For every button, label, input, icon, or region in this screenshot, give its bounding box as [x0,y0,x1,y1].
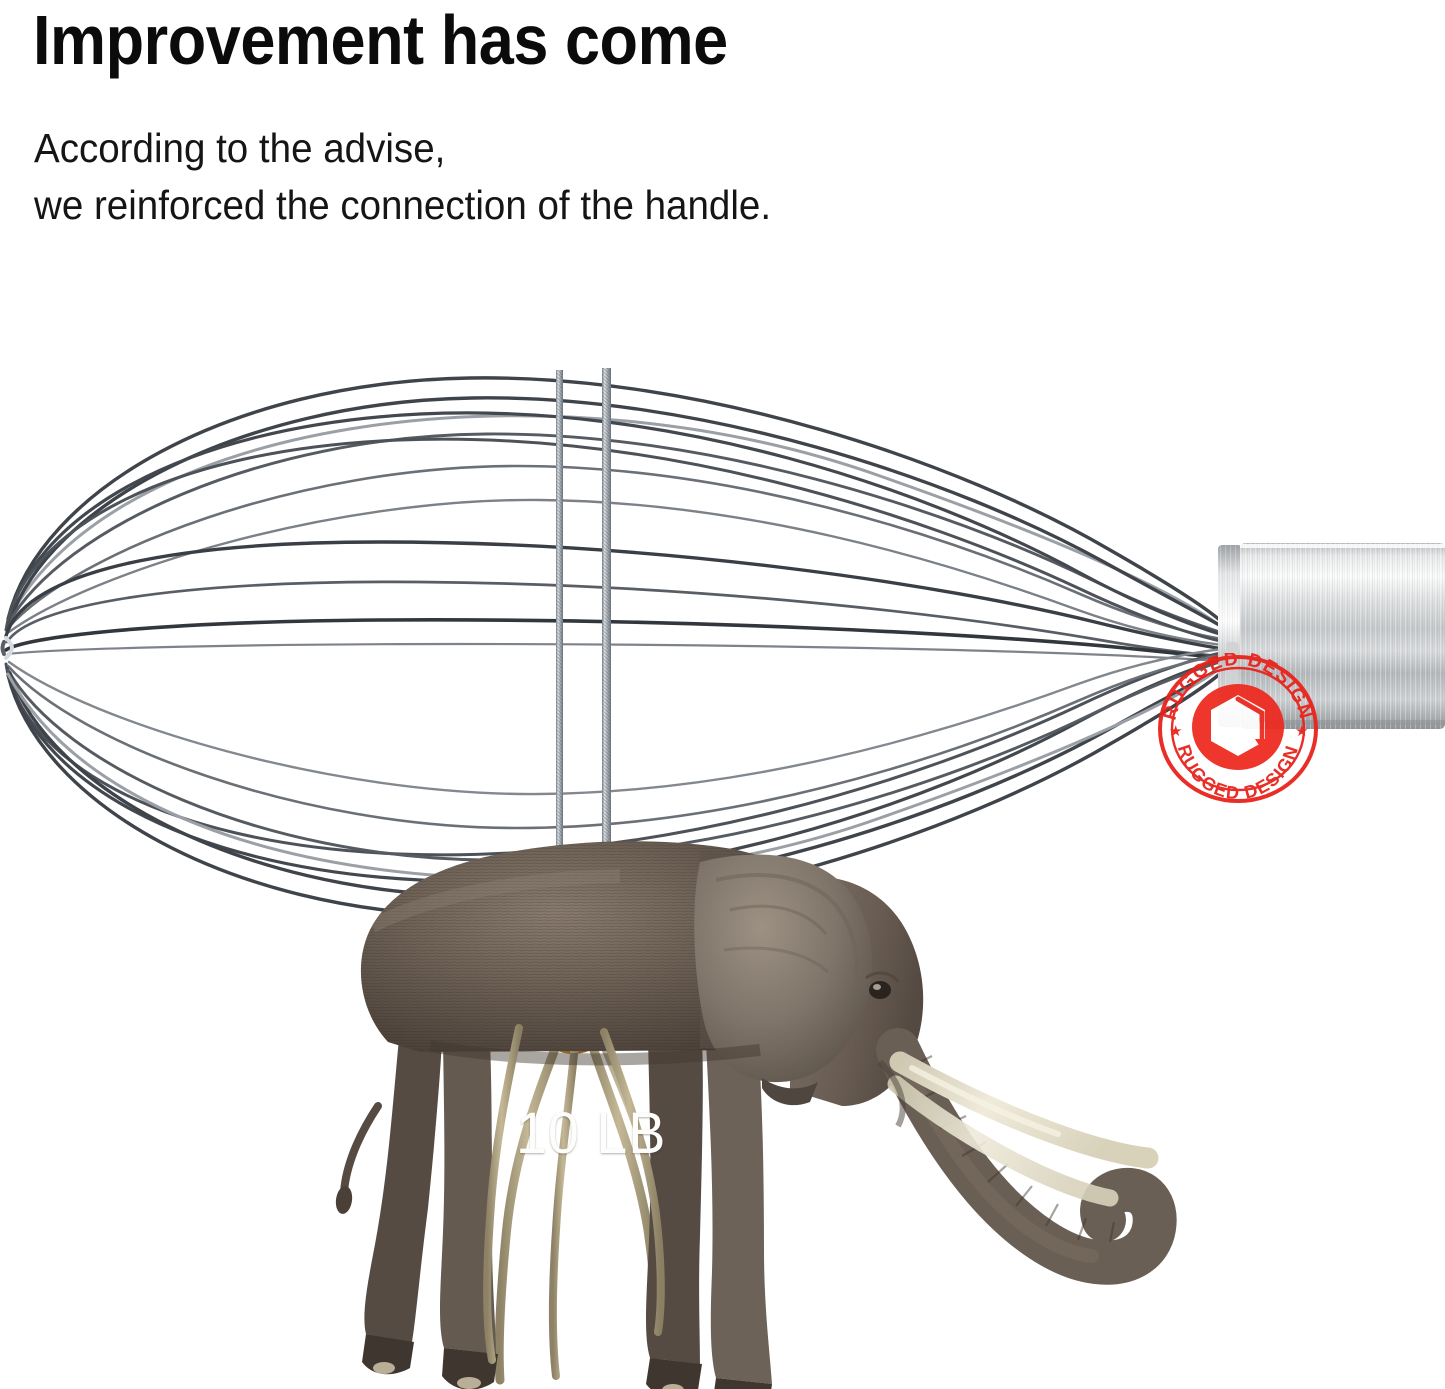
badge-star-right: ★ [1295,723,1308,740]
rugged-design-badge: RUGGED DESIGN RUGGED DESIGN ★ ★ [1152,653,1324,803]
whisk-elephant-illustration [0,250,1445,1389]
page-subtitle: According to the advise, we reinforced t… [34,120,771,233]
page-title: Improvement has come [33,4,728,77]
whisk-wire-cage [3,378,1233,916]
product-photo [0,250,1445,1389]
badge-star-left: ★ [1169,723,1182,740]
subtitle-line-2: we reinforced the connection of the hand… [34,177,771,234]
rugged-design-stamp: RUGGED DESIGN RUGGED DESIGN ★ ★ [1152,653,1324,803]
elephant-load [334,830,1155,1389]
subtitle-line-1: According to the advise, [34,120,771,177]
sling-ropes [499,1028,662,1380]
product-marketing-image: Improvement has come According to the ad… [0,0,1445,1389]
